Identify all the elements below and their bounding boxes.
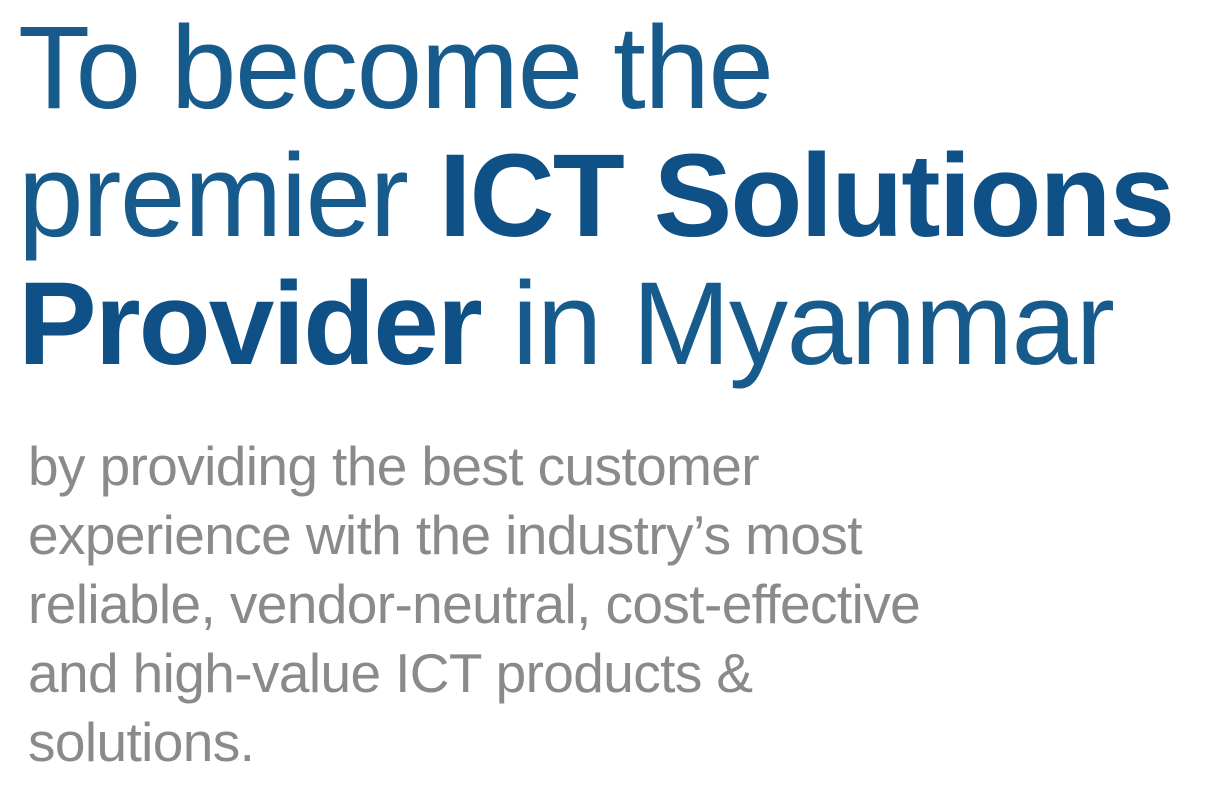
- body-line-3: reliable, vendor-neutral, cost-effective: [28, 570, 1108, 639]
- headline-line-3-light-text: in Myanmar: [481, 258, 1114, 390]
- slide-content: To become the premier ICT Solutions Prov…: [0, 0, 1225, 800]
- body-line-4: and high-value ICT products &: [28, 639, 1108, 708]
- headline-line-1: To become the: [18, 4, 1218, 132]
- body-line-1: by providing the best customer: [28, 432, 1108, 501]
- headline-line-2-emphasis-text: ICT Solutions: [439, 130, 1173, 262]
- vision-statement-slide: To become the premier ICT Solutions Prov…: [0, 0, 1225, 800]
- headline-line-3: Provider in Myanmar: [18, 260, 1218, 388]
- headline-line-2-light-text: premier: [18, 130, 439, 262]
- headline-line-2: premier ICT Solutions: [18, 132, 1218, 260]
- headline: To become the premier ICT Solutions Prov…: [18, 4, 1218, 388]
- body-line-2: experience with the industry’s most: [28, 501, 1108, 570]
- headline-line-3-emphasis-text: Provider: [18, 258, 481, 390]
- body-line-5: solutions.: [28, 708, 1108, 777]
- body-paragraph: by providing the best customer experienc…: [28, 432, 1108, 777]
- headline-line-1-text: To become the: [18, 2, 773, 134]
